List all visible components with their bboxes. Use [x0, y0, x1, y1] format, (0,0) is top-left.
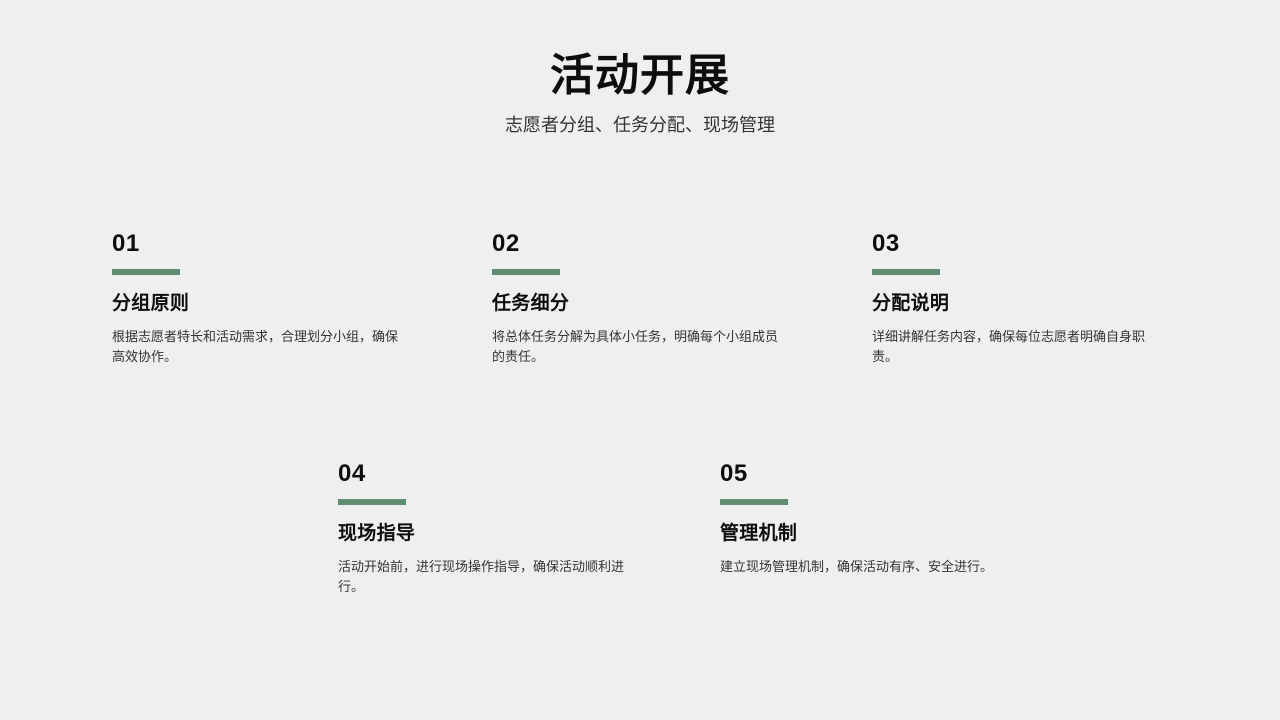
card-number: 01: [112, 232, 412, 256]
card-heading: 任务细分: [492, 293, 792, 316]
card-description: 详细讲解任务内容，确保每位志愿者明确自身职责。: [872, 327, 1170, 367]
slide-header: 活动开展 志愿者分组、任务分配、现场管理: [0, 52, 1280, 137]
card-04: 04 现场指导 活动开始前，进行现场操作指导，确保活动顺利进行。: [338, 462, 720, 597]
card-02: 02 任务细分 将总体任务分解为具体小任务，明确每个小组成员的责任。: [492, 232, 872, 367]
card-description: 活动开始前，进行现场操作指导，确保活动顺利进行。: [338, 557, 636, 597]
card-03: 03 分配说明 详细讲解任务内容，确保每位志愿者明确自身职责。: [872, 232, 1252, 367]
card-heading: 现场指导: [338, 523, 640, 546]
card-description: 建立现场管理机制，确保活动有序、安全进行。: [720, 557, 1018, 577]
card-heading: 管理机制: [720, 523, 1022, 546]
accent-bar: [338, 499, 406, 505]
accent-bar: [720, 499, 788, 505]
card-row-bottom: 04 现场指导 活动开始前，进行现场操作指导，确保活动顺利进行。 05 管理机制…: [338, 462, 1102, 597]
slide: 活动开展 志愿者分组、任务分配、现场管理 01 分组原则 根据志愿者特长和活动需…: [0, 0, 1280, 720]
card-row-top: 01 分组原则 根据志愿者特长和活动需求，合理划分小组，确保高效协作。 02 任…: [112, 232, 1252, 367]
card-number: 05: [720, 462, 1022, 486]
card-number: 04: [338, 462, 640, 486]
accent-bar: [492, 269, 560, 275]
card-description: 根据志愿者特长和活动需求，合理划分小组，确保高效协作。: [112, 327, 410, 367]
page-subtitle: 志愿者分组、任务分配、现场管理: [0, 114, 1280, 137]
accent-bar: [112, 269, 180, 275]
accent-bar: [872, 269, 940, 275]
page-title: 活动开展: [0, 52, 1280, 100]
card-heading: 分配说明: [872, 293, 1172, 316]
card-05: 05 管理机制 建立现场管理机制，确保活动有序、安全进行。: [720, 462, 1102, 597]
card-01: 01 分组原则 根据志愿者特长和活动需求，合理划分小组，确保高效协作。: [112, 232, 492, 367]
card-number: 03: [872, 232, 1172, 256]
card-description: 将总体任务分解为具体小任务，明确每个小组成员的责任。: [492, 327, 790, 367]
card-heading: 分组原则: [112, 293, 412, 316]
card-number: 02: [492, 232, 792, 256]
